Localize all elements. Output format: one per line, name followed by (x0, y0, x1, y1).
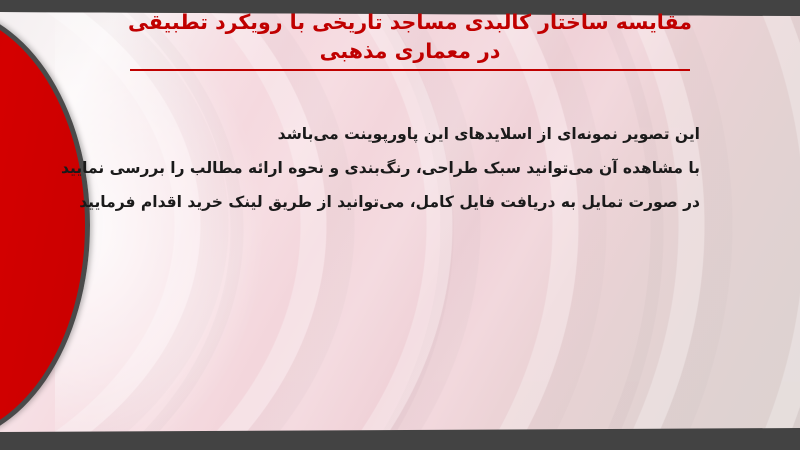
slide-body-text: این تصویر نمونه‌ای از اسلایدهای این پاور… (140, 118, 700, 219)
title-line-1: مقایسه ساختار کالبدی مساجد تاریخی با روی… (110, 8, 710, 37)
presentation-slide: مقایسه ساختار کالبدی مساجد تاریخی با روی… (0, 0, 800, 450)
body-line-2: با مشاهده آن می‌توانید سبک طراحی، رنگ‌بن… (140, 152, 700, 186)
title-divider-rule (130, 69, 690, 71)
body-line-3: در صورت تمایل به دریافت فایل کامل، می‌تو… (140, 186, 700, 220)
title-line-2: در معماری مذهبی (110, 37, 710, 66)
slide-title: مقایسه ساختار کالبدی مساجد تاریخی با روی… (110, 8, 710, 71)
body-line-1: این تصویر نمونه‌ای از اسلایدهای این پاور… (140, 118, 700, 152)
